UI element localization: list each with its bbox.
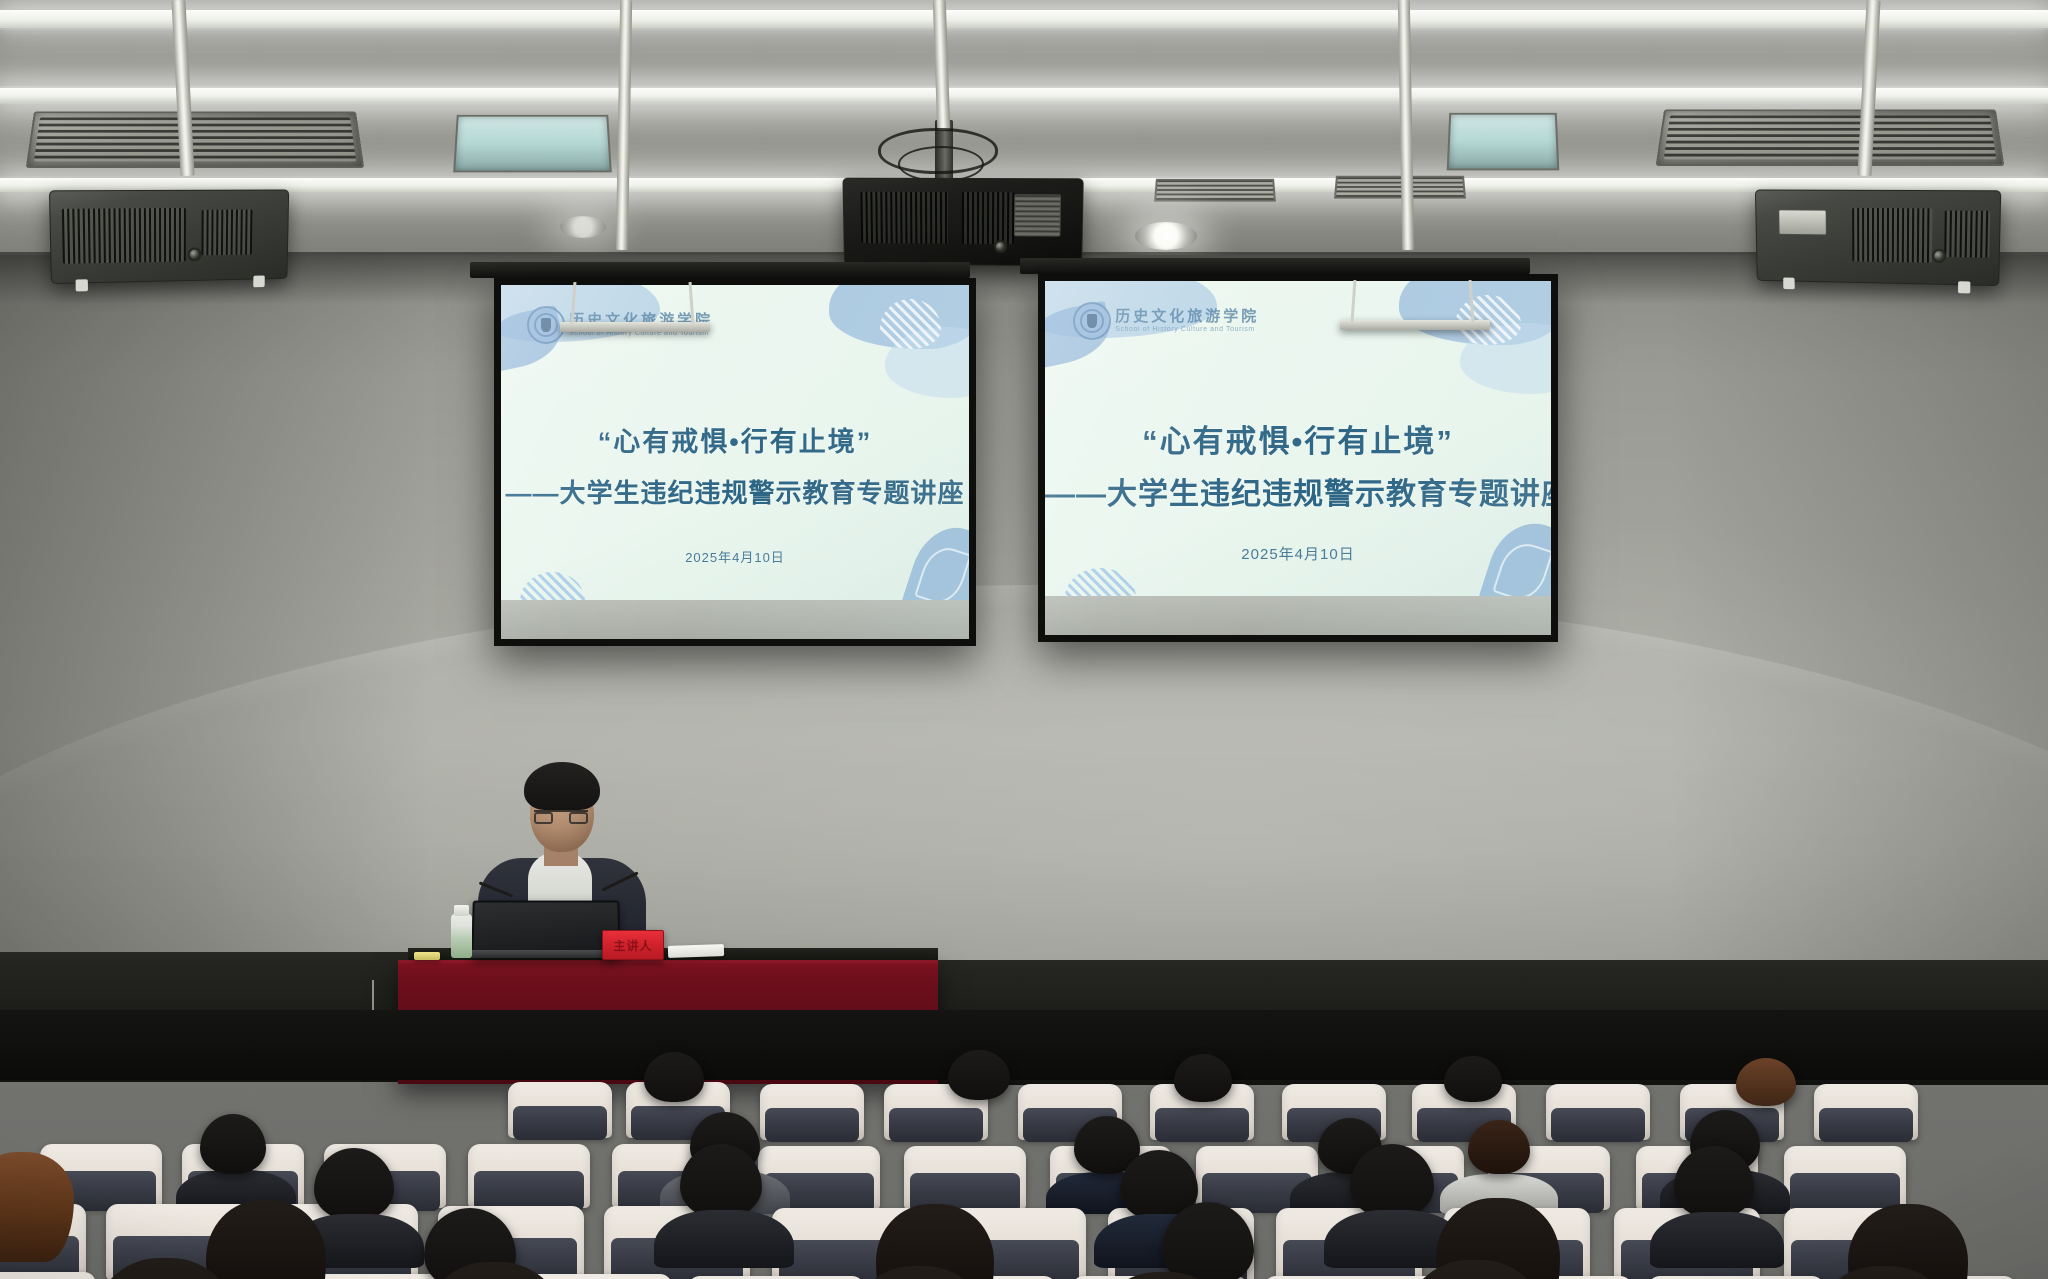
audience-row-5 <box>0 1232 2048 1279</box>
placard-text: 主讲人 <box>613 937 652 954</box>
audience-head <box>1444 1056 1502 1102</box>
slide-bottom-strip-left <box>501 600 969 639</box>
audience-head <box>644 1052 704 1102</box>
projector-cable-bundle-center-2 <box>898 146 984 182</box>
audience-head <box>1736 1058 1796 1106</box>
slide-org-logo: 历史文化旅游学院 School of History Culture and T… <box>1073 302 1255 340</box>
speaker-name-placard: 主讲人 <box>602 930 664 960</box>
ceiling-vent-small-1 <box>1154 179 1276 202</box>
audience-head <box>1400 1260 1550 1279</box>
audience-head <box>1810 1266 1958 1279</box>
projector-far-left <box>49 189 289 284</box>
lecture-hall-scene: 历史文化旅游学院 School of History Culture and T… <box>0 0 2048 1279</box>
left-slide: 历史文化旅游学院 School of History Culture and T… <box>501 285 969 639</box>
slide-title-left: “心有戒惧•行有止境” <box>501 420 969 459</box>
left-screen-housing <box>470 262 970 278</box>
projector-far-right <box>1755 189 2001 286</box>
audience-head <box>846 1266 992 1279</box>
ceiling-downlight-2 <box>560 216 606 238</box>
water-bottle[interactable] <box>451 914 472 958</box>
ceiling-light-strip-2 <box>0 88 2048 103</box>
speaker-glasses <box>534 810 588 820</box>
slide-subtitle-left: ——大学生违纪违规警示教育专题讲座 <box>501 473 969 510</box>
right-screen-housing <box>1020 258 1530 274</box>
audience-seating <box>0 1010 2048 1279</box>
ceiling-band-upper <box>0 30 2048 86</box>
slide-date-right: 2025年4月10日 <box>1045 543 1551 564</box>
left-screen[interactable]: 历史文化旅游学院 School of History Culture and T… <box>494 278 976 646</box>
ceiling-skylight-panel-2 <box>1447 113 1560 171</box>
ceiling-downlight <box>1135 222 1197 250</box>
papers-on-table[interactable] <box>668 944 724 958</box>
ceiling-vent-1 <box>26 111 365 168</box>
audience-head <box>90 1258 240 1279</box>
water-bottle-cap[interactable] <box>454 905 469 916</box>
university-emblem-icon <box>1073 302 1111 340</box>
ceiling-vent-2 <box>1656 109 2005 166</box>
slide-date-left: 2025年4月10日 <box>501 547 969 566</box>
slide-deco-stripes-topright <box>880 299 941 349</box>
slide-bottom-strip-right <box>1045 596 1551 635</box>
audience-head <box>1092 1272 1234 1279</box>
projector-center <box>842 178 1083 267</box>
audience-head <box>1174 1054 1232 1102</box>
slide-org-name-en: School of History Culture and Tourism <box>1115 326 1259 334</box>
slide-subtitle-right: ——大学生违纪违规警示教育专题讲座 <box>1045 469 1551 513</box>
ceiling-light-strip-1 <box>0 10 2048 28</box>
slide-title-right: “心有戒惧•行有止境” <box>1045 416 1551 461</box>
hanging-light-fixture-right <box>1340 320 1490 330</box>
sticky-notes[interactable] <box>414 952 440 960</box>
hanging-light-fixture <box>560 322 710 332</box>
audience-head <box>420 1262 568 1279</box>
ceiling-skylight-panel-1 <box>453 115 612 173</box>
slide-org-name-cn: 历史文化旅游学院 <box>1115 309 1259 326</box>
wall-right-shadow <box>1668 255 2048 1015</box>
speaker-hair <box>524 762 600 810</box>
wall-left-shadow <box>0 255 430 1015</box>
audience-head <box>948 1050 1010 1100</box>
right-slide: 历史文化旅游学院 School of History Culture and T… <box>1045 281 1551 635</box>
